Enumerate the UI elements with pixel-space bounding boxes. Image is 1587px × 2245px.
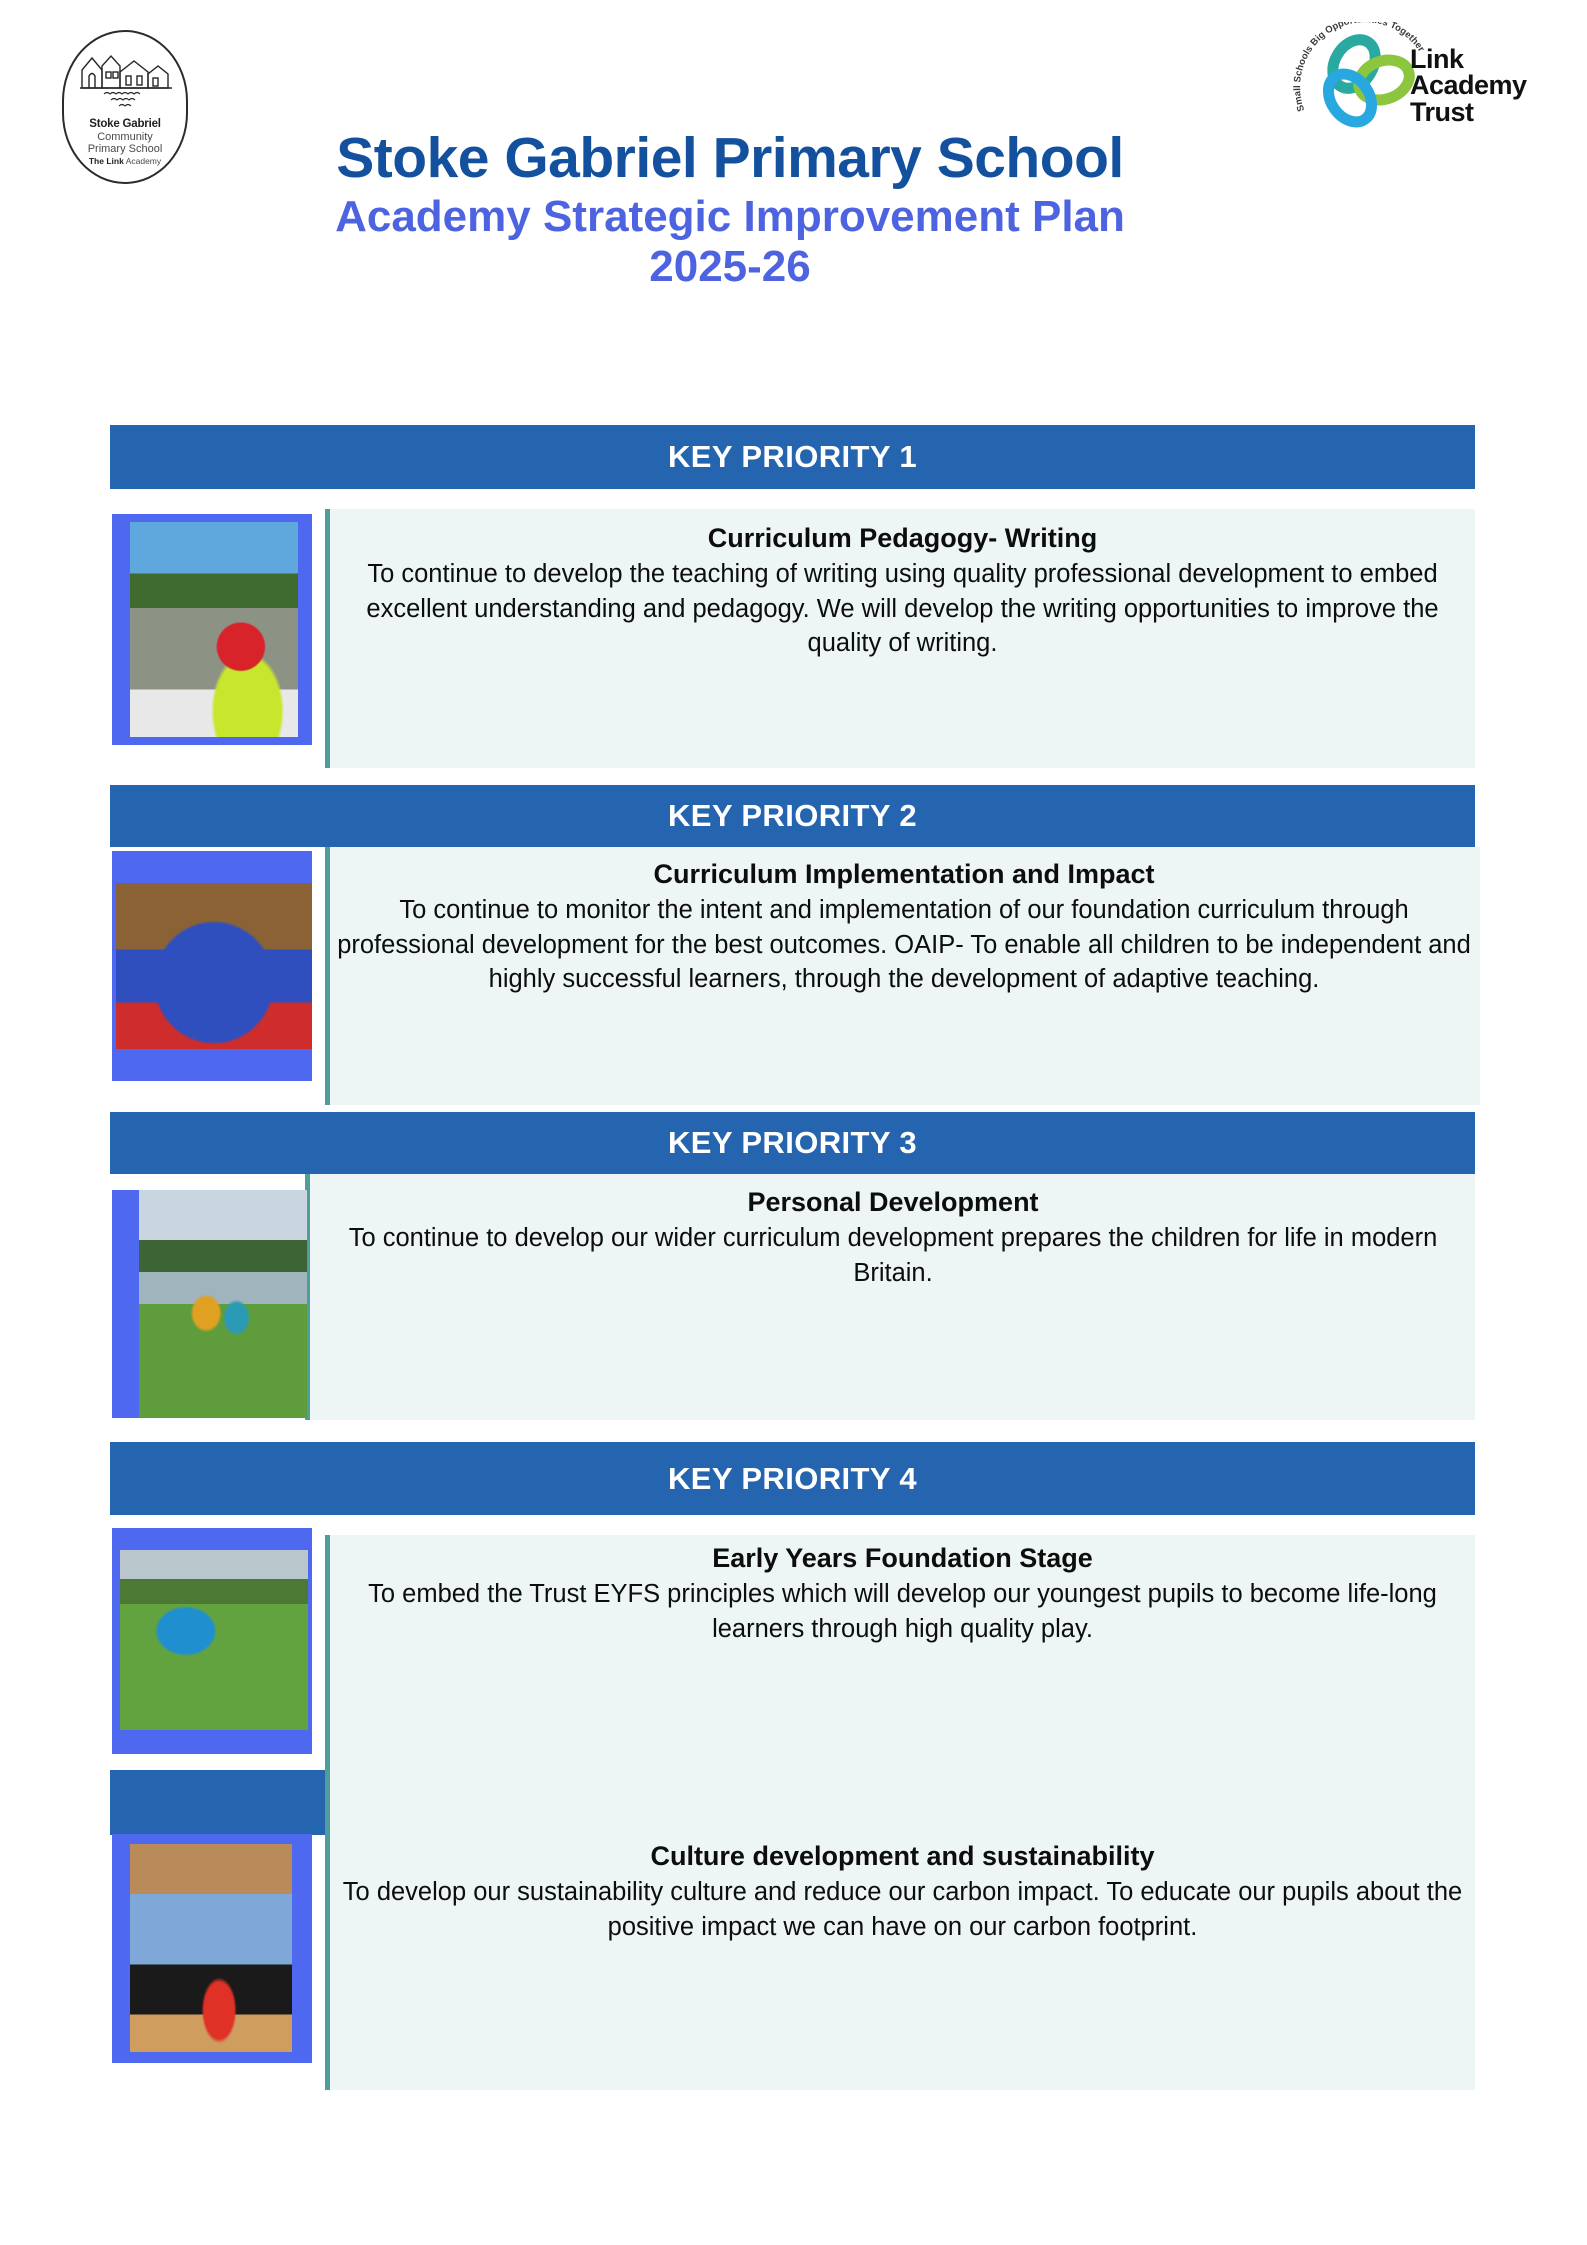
priority-3-photo-frame: [112, 1190, 307, 1418]
priority-4-header-bar[interactable]: KEY PRIORITY 4: [110, 1442, 1475, 1515]
priority-3-description: To continue to develop our wider curricu…: [318, 1221, 1468, 1290]
priority-2-description: To continue to monitor the intent and im…: [333, 893, 1475, 997]
priority-3-text: Personal Development To continue to deve…: [318, 1186, 1468, 1290]
school-building-icon: [78, 48, 174, 110]
priority-5-description: To develop our sustainability culture an…: [340, 1875, 1465, 1944]
photo-outdoor-story-time-by-river: [139, 1190, 307, 1418]
crest-line-4-bold: The Link: [89, 156, 124, 166]
priority-2-heading: Curriculum Implementation and Impact: [333, 858, 1475, 891]
page-year: 2025-26: [140, 242, 1320, 291]
trust-word-link: Link: [1410, 46, 1527, 72]
priority-3-header-bar[interactable]: KEY PRIORITY 3: [110, 1112, 1475, 1174]
priority-4-photo-frame: [112, 1528, 312, 1754]
trust-logo: Small Schools Big Opportunities Together…: [1292, 22, 1542, 134]
page-title: Stoke Gabriel Primary School: [140, 128, 1320, 188]
photo-sailing-pupil-red-helmet: [130, 522, 298, 737]
trust-word-trust: Trust: [1410, 99, 1527, 125]
photo-early-years-outdoor-field: [120, 1550, 308, 1730]
priority-1-photo-frame: [112, 514, 312, 745]
priority-4-text: Early Years Foundation Stage To embed th…: [340, 1542, 1465, 1646]
priority-5-heading: Culture development and sustainability: [340, 1840, 1465, 1873]
priority-1-heading: Curriculum Pedagogy- Writing: [340, 522, 1465, 555]
title-block: Stoke Gabriel Primary School Academy Str…: [140, 128, 1320, 291]
photo-pupils-science-experiment: [116, 883, 312, 1049]
priority-4-heading: Early Years Foundation Stage: [340, 1542, 1465, 1575]
priority-4-description: To embed the Trust EYFS principles which…: [340, 1577, 1465, 1646]
priority-1-description: To continue to develop the teaching of w…: [340, 557, 1465, 661]
priority-2-photo-frame: [112, 851, 312, 1081]
priority-2-header-bar[interactable]: KEY PRIORITY 2: [110, 785, 1475, 847]
photo-pupils-sustainability-activity: [130, 1844, 292, 2052]
priority-3-heading: Personal Development: [318, 1186, 1468, 1219]
page-subtitle: Academy Strategic Improvement Plan: [140, 192, 1320, 241]
priority-1-header-bar[interactable]: KEY PRIORITY 1: [110, 425, 1475, 489]
priority-5-photo-frame: [112, 1834, 312, 2063]
priority-2-text: Curriculum Implementation and Impact To …: [333, 858, 1475, 997]
priority-5-text: Culture development and sustainability T…: [340, 1840, 1465, 1944]
priority-1-text: Curriculum Pedagogy- Writing To continue…: [340, 522, 1465, 661]
page-header: Stoke Gabriel Community Primary School T…: [0, 0, 1587, 390]
trust-word-academy: Academy: [1410, 72, 1527, 98]
trust-wordmark: Link Academy Trust: [1410, 46, 1527, 125]
